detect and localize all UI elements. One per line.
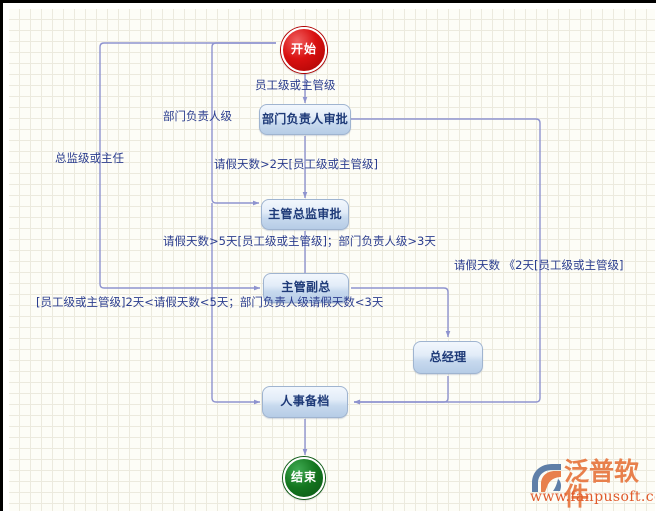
node-general-manager-label: 总经理: [430, 351, 467, 364]
node-start-label: 开始: [291, 43, 317, 56]
node-dept-approval-label: 部门负责人审批: [262, 113, 348, 126]
edge-label-days-gt-2: 请假天数>2天[员工级或主管级]: [214, 159, 378, 171]
edge-label-days-gt-5: 请假天数>5天[员工级或主管级]；部门负责人级>3天: [163, 236, 436, 248]
diagram-canvas[interactable]: 开始 部门负责人审批 主管总监审批 主管副总 总经理 人事备档 结束 员工级或主…: [9, 9, 655, 511]
node-vice-president-label: 主管副总: [281, 281, 330, 294]
edge-label-director-or-chief: 总监级或主任: [55, 153, 124, 165]
node-director-approval-label: 主管总监审批: [268, 208, 342, 221]
edge-label-days-lt-2: 请假天数 《2天[员工级或主管级]: [454, 260, 623, 272]
diagram-window: 开始 部门负责人审批 主管总监审批 主管副总 总经理 人事备档 结束 员工级或主…: [0, 0, 656, 511]
node-hr-archive-label: 人事备档: [280, 395, 329, 408]
node-general-manager[interactable]: 总经理: [413, 341, 483, 374]
edge-label-dept-head-level: 部门负责人级: [163, 111, 232, 123]
node-dept-approval[interactable]: 部门负责人审批: [259, 104, 351, 135]
edge-gm-to-hr: [354, 376, 448, 402]
edge-label-days-between-2-and-5: [员工级或主管级]2天<请假天数<5天；部门负责人级请假天数<3天: [36, 297, 383, 309]
node-director-approval[interactable]: 主管总监审批: [261, 199, 349, 230]
node-start[interactable]: 开始: [281, 27, 327, 73]
edge-label-employee-or-supervisor: 员工级或主管级: [255, 80, 336, 92]
watermark-logo: 泛普软件 www.fanpusoft.com: [528, 457, 655, 511]
node-hr-archive[interactable]: 人事备档: [262, 386, 348, 418]
node-end-label: 结束: [291, 471, 317, 484]
node-end[interactable]: 结束: [283, 457, 325, 499]
logo-url-text: www.fanpusoft.com: [530, 489, 655, 505]
